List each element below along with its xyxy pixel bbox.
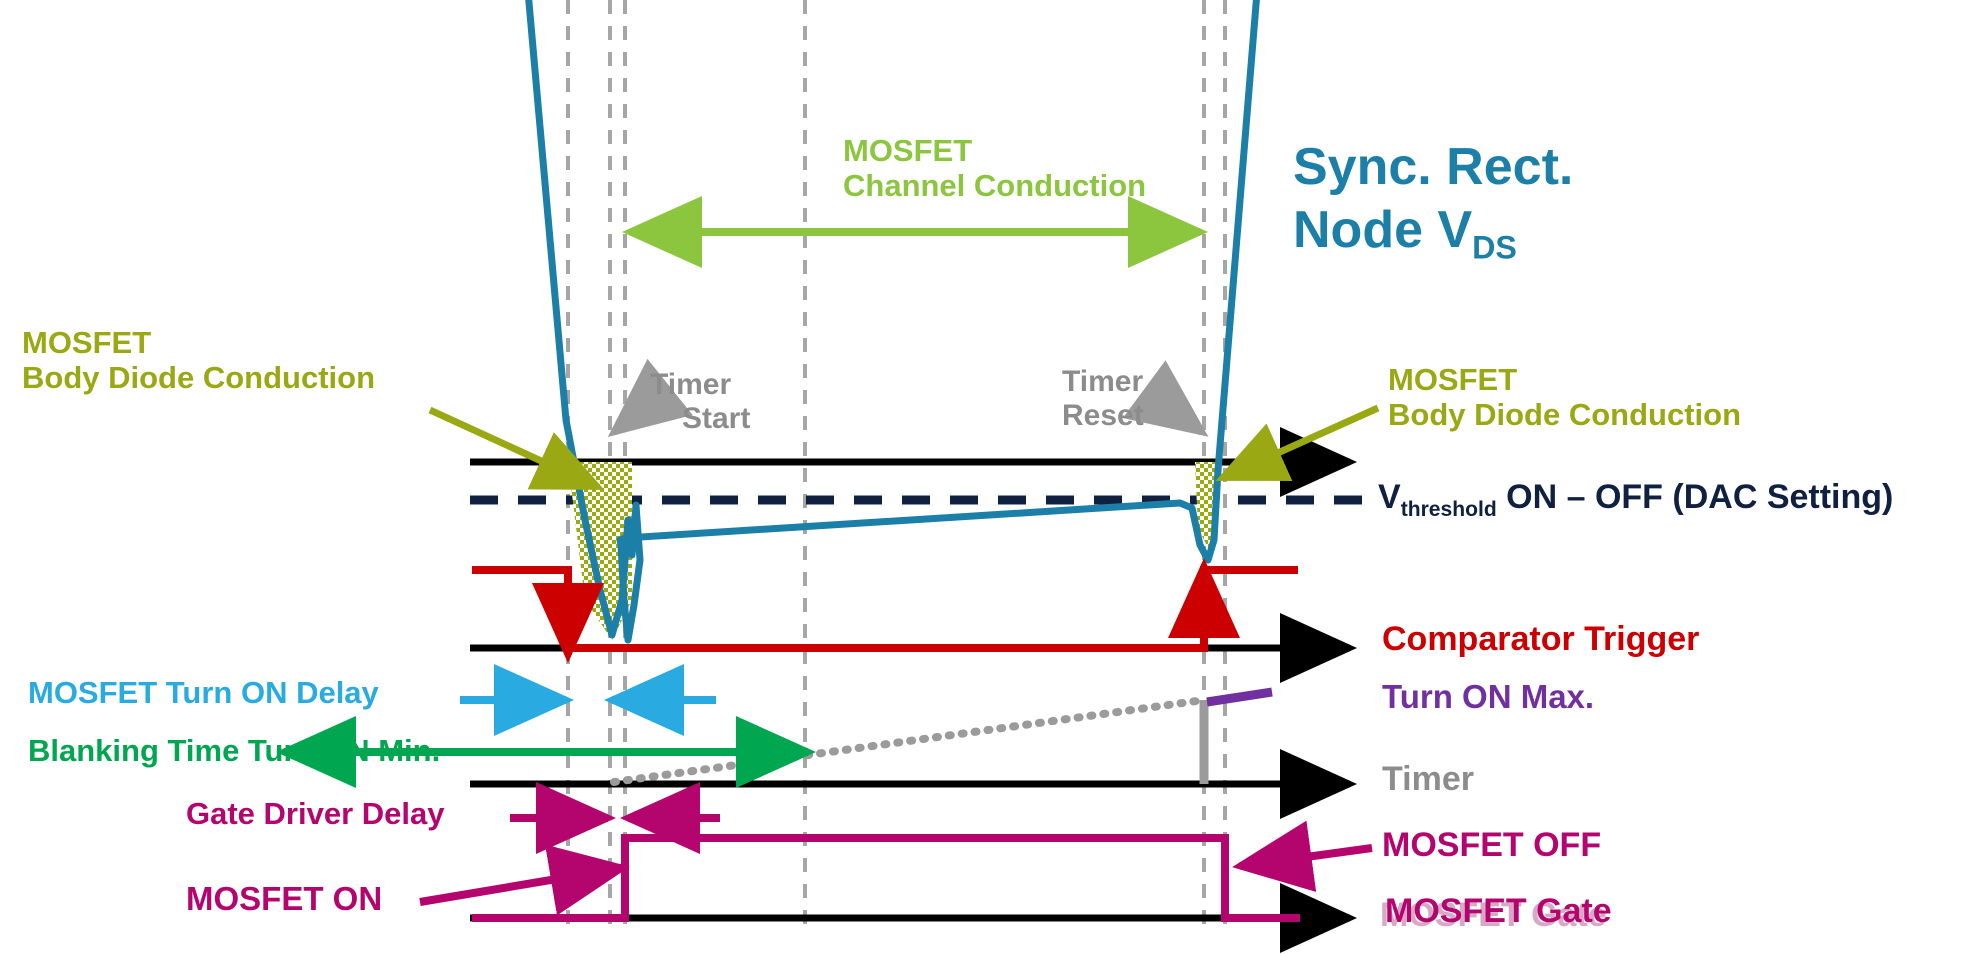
label-mosfet-off: MOSFET OFF — [1382, 826, 1601, 865]
channel-conduction-line-1: MOSFET — [843, 133, 1146, 168]
label-mosfet-on: MOSFET ON — [186, 880, 382, 918]
channel-conduction-line-2: Channel Conduction — [843, 168, 1146, 203]
timer-reset-line-1: Timer — [1062, 365, 1144, 399]
vthreshold-rest: ON – OFF (DAC Setting) — [1497, 478, 1894, 516]
timer-start-line-2: Start — [682, 402, 750, 436]
title-sync-rect: Sync. Rect. Node VDS — [1293, 138, 1573, 266]
mosfet-off-leader — [1240, 848, 1372, 866]
gate-waveform — [472, 838, 1300, 918]
body-diode-left-line-1: MOSFET — [22, 325, 375, 360]
timer-ramp — [614, 700, 1204, 782]
label-body-diode-left: MOSFET Body Diode Conduction — [22, 325, 375, 396]
label-comparator-trigger: Comparator Trigger — [1382, 620, 1699, 659]
label-timer-start: Timer Start — [650, 368, 750, 436]
label-mosfet-gate: MOSFET Gate — [1385, 892, 1612, 931]
label-timer-reset: Timer Reset — [1062, 365, 1144, 433]
label-vthreshold: Vthreshold ON – OFF (DAC Setting) — [1378, 478, 1893, 522]
body-diode-left-line-2: Body Diode Conduction — [22, 360, 375, 395]
label-timer-axis: Timer — [1382, 760, 1474, 799]
label-channel-conduction: MOSFET Channel Conduction — [843, 133, 1146, 204]
vds-waveform — [527, 0, 1258, 640]
vthreshold-subscript: threshold — [1401, 498, 1497, 521]
body-diode-leader-right — [1222, 408, 1378, 478]
body-diode-right-line-2: Body Diode Conduction — [1388, 397, 1741, 432]
timer-start-line-1: Timer — [650, 368, 750, 402]
turn-on-max-segment — [1207, 692, 1272, 702]
title-line-1: Sync. Rect. — [1293, 138, 1573, 197]
timing-diagram-canvas: Sync. Rect. Node VDS MOSFET Body Diode C… — [0, 0, 1971, 954]
timer-reset-leader — [1152, 395, 1202, 432]
body-diode-right-line-1: MOSFET — [1388, 362, 1741, 397]
label-turn-on-max: Turn ON Max. — [1382, 678, 1594, 716]
label-gate-driver-delay: Gate Driver Delay — [186, 796, 444, 831]
label-mosfet-turn-on-delay: MOSFET Turn ON Delay — [28, 675, 379, 710]
mosfet-on-leader — [420, 868, 622, 902]
timer-reset-line-2: Reset — [1062, 399, 1144, 433]
title-vds-subscript: DS — [1472, 230, 1517, 266]
label-body-diode-right: MOSFET Body Diode Conduction — [1388, 362, 1741, 433]
vthreshold-v: V — [1378, 478, 1401, 516]
title-node-vds-text: Node V — [1293, 201, 1472, 259]
title-line-2: Node VDS — [1293, 201, 1573, 266]
label-blanking-time: Blanking Time Turn ON Min. — [28, 733, 440, 768]
